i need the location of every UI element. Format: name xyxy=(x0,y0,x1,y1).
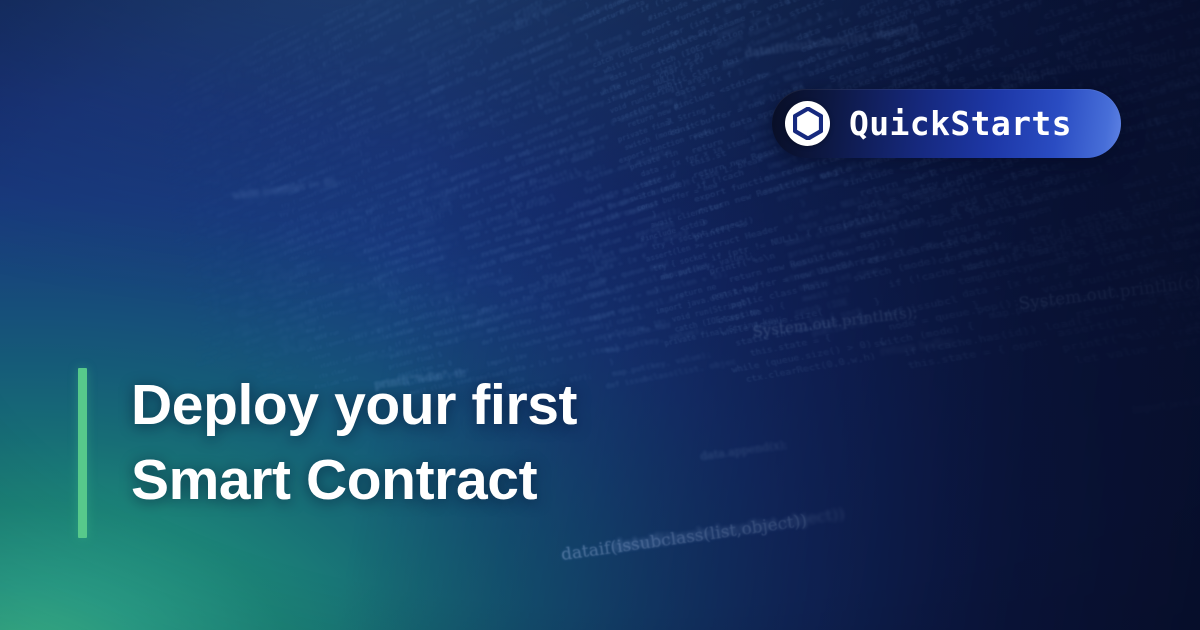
accent-bar xyxy=(78,368,87,538)
headline-line-2: Smart Contract xyxy=(131,443,577,518)
quickstarts-banner: def issubcla return const buffer = } swi… xyxy=(0,0,1200,630)
headline-block: Deploy your first Smart Contract xyxy=(78,368,577,538)
quickstarts-badge[interactable]: QuickStarts xyxy=(772,89,1121,158)
badge-label: QuickStarts xyxy=(849,107,1072,140)
headline-line-1: Deploy your first xyxy=(131,368,577,443)
chainlink-hexagon-icon xyxy=(785,101,830,146)
page-title: Deploy your first Smart Contract xyxy=(131,368,577,538)
